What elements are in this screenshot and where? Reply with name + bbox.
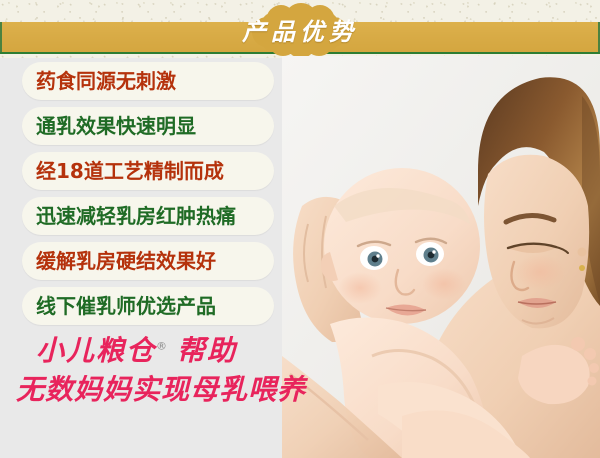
feature-label-1: 药食同源无刺激 (36, 71, 176, 91)
page-title: 产品优势 (0, 20, 600, 44)
brand-slogan: 小儿粮仓®帮助 无数妈妈实现母乳喂养 (14, 336, 304, 405)
feature-label-3: 经18道工艺精制而成 (36, 161, 224, 181)
feature-pill-2[interactable]: 通乳效果快速明显 (22, 107, 274, 145)
mother-and-baby-photo (282, 56, 600, 458)
feature-label-4: 迅速减轻乳房红肿热痛 (36, 206, 236, 226)
slogan-line-1: 小儿粮仓®帮助 (14, 336, 304, 365)
registered-trademark-mark: ® (156, 340, 167, 353)
feature-pill-4[interactable]: 迅速减轻乳房红肿热痛 (22, 197, 274, 235)
feature-pill-5[interactable]: 缓解乳房硬结效果好 (22, 242, 274, 280)
slogan-line-1-suffix: 帮助 (177, 334, 237, 367)
header-banner: 产品优势 (0, 0, 600, 58)
feature-pill-3[interactable]: 经18道工艺精制而成 (22, 152, 274, 190)
feature-pill-6[interactable]: 线下催乳师优选产品 (22, 287, 274, 325)
slogan-line-2: 无数妈妈实现母乳喂养 (14, 375, 304, 404)
feature-label-2: 通乳效果快速明显 (36, 116, 196, 136)
feature-pill-1[interactable]: 药食同源无刺激 (22, 62, 274, 100)
feature-list: 药食同源无刺激 通乳效果快速明显 经18道工艺精制而成 迅速减轻乳房红肿热痛 缓… (22, 62, 274, 332)
feature-label-5: 缓解乳房硬结效果好 (36, 251, 216, 271)
brand-name: 小儿粮仓 (36, 334, 156, 367)
feature-label-6: 线下催乳师优选产品 (36, 296, 216, 316)
product-advantages-page: 产品优势 (0, 0, 600, 458)
